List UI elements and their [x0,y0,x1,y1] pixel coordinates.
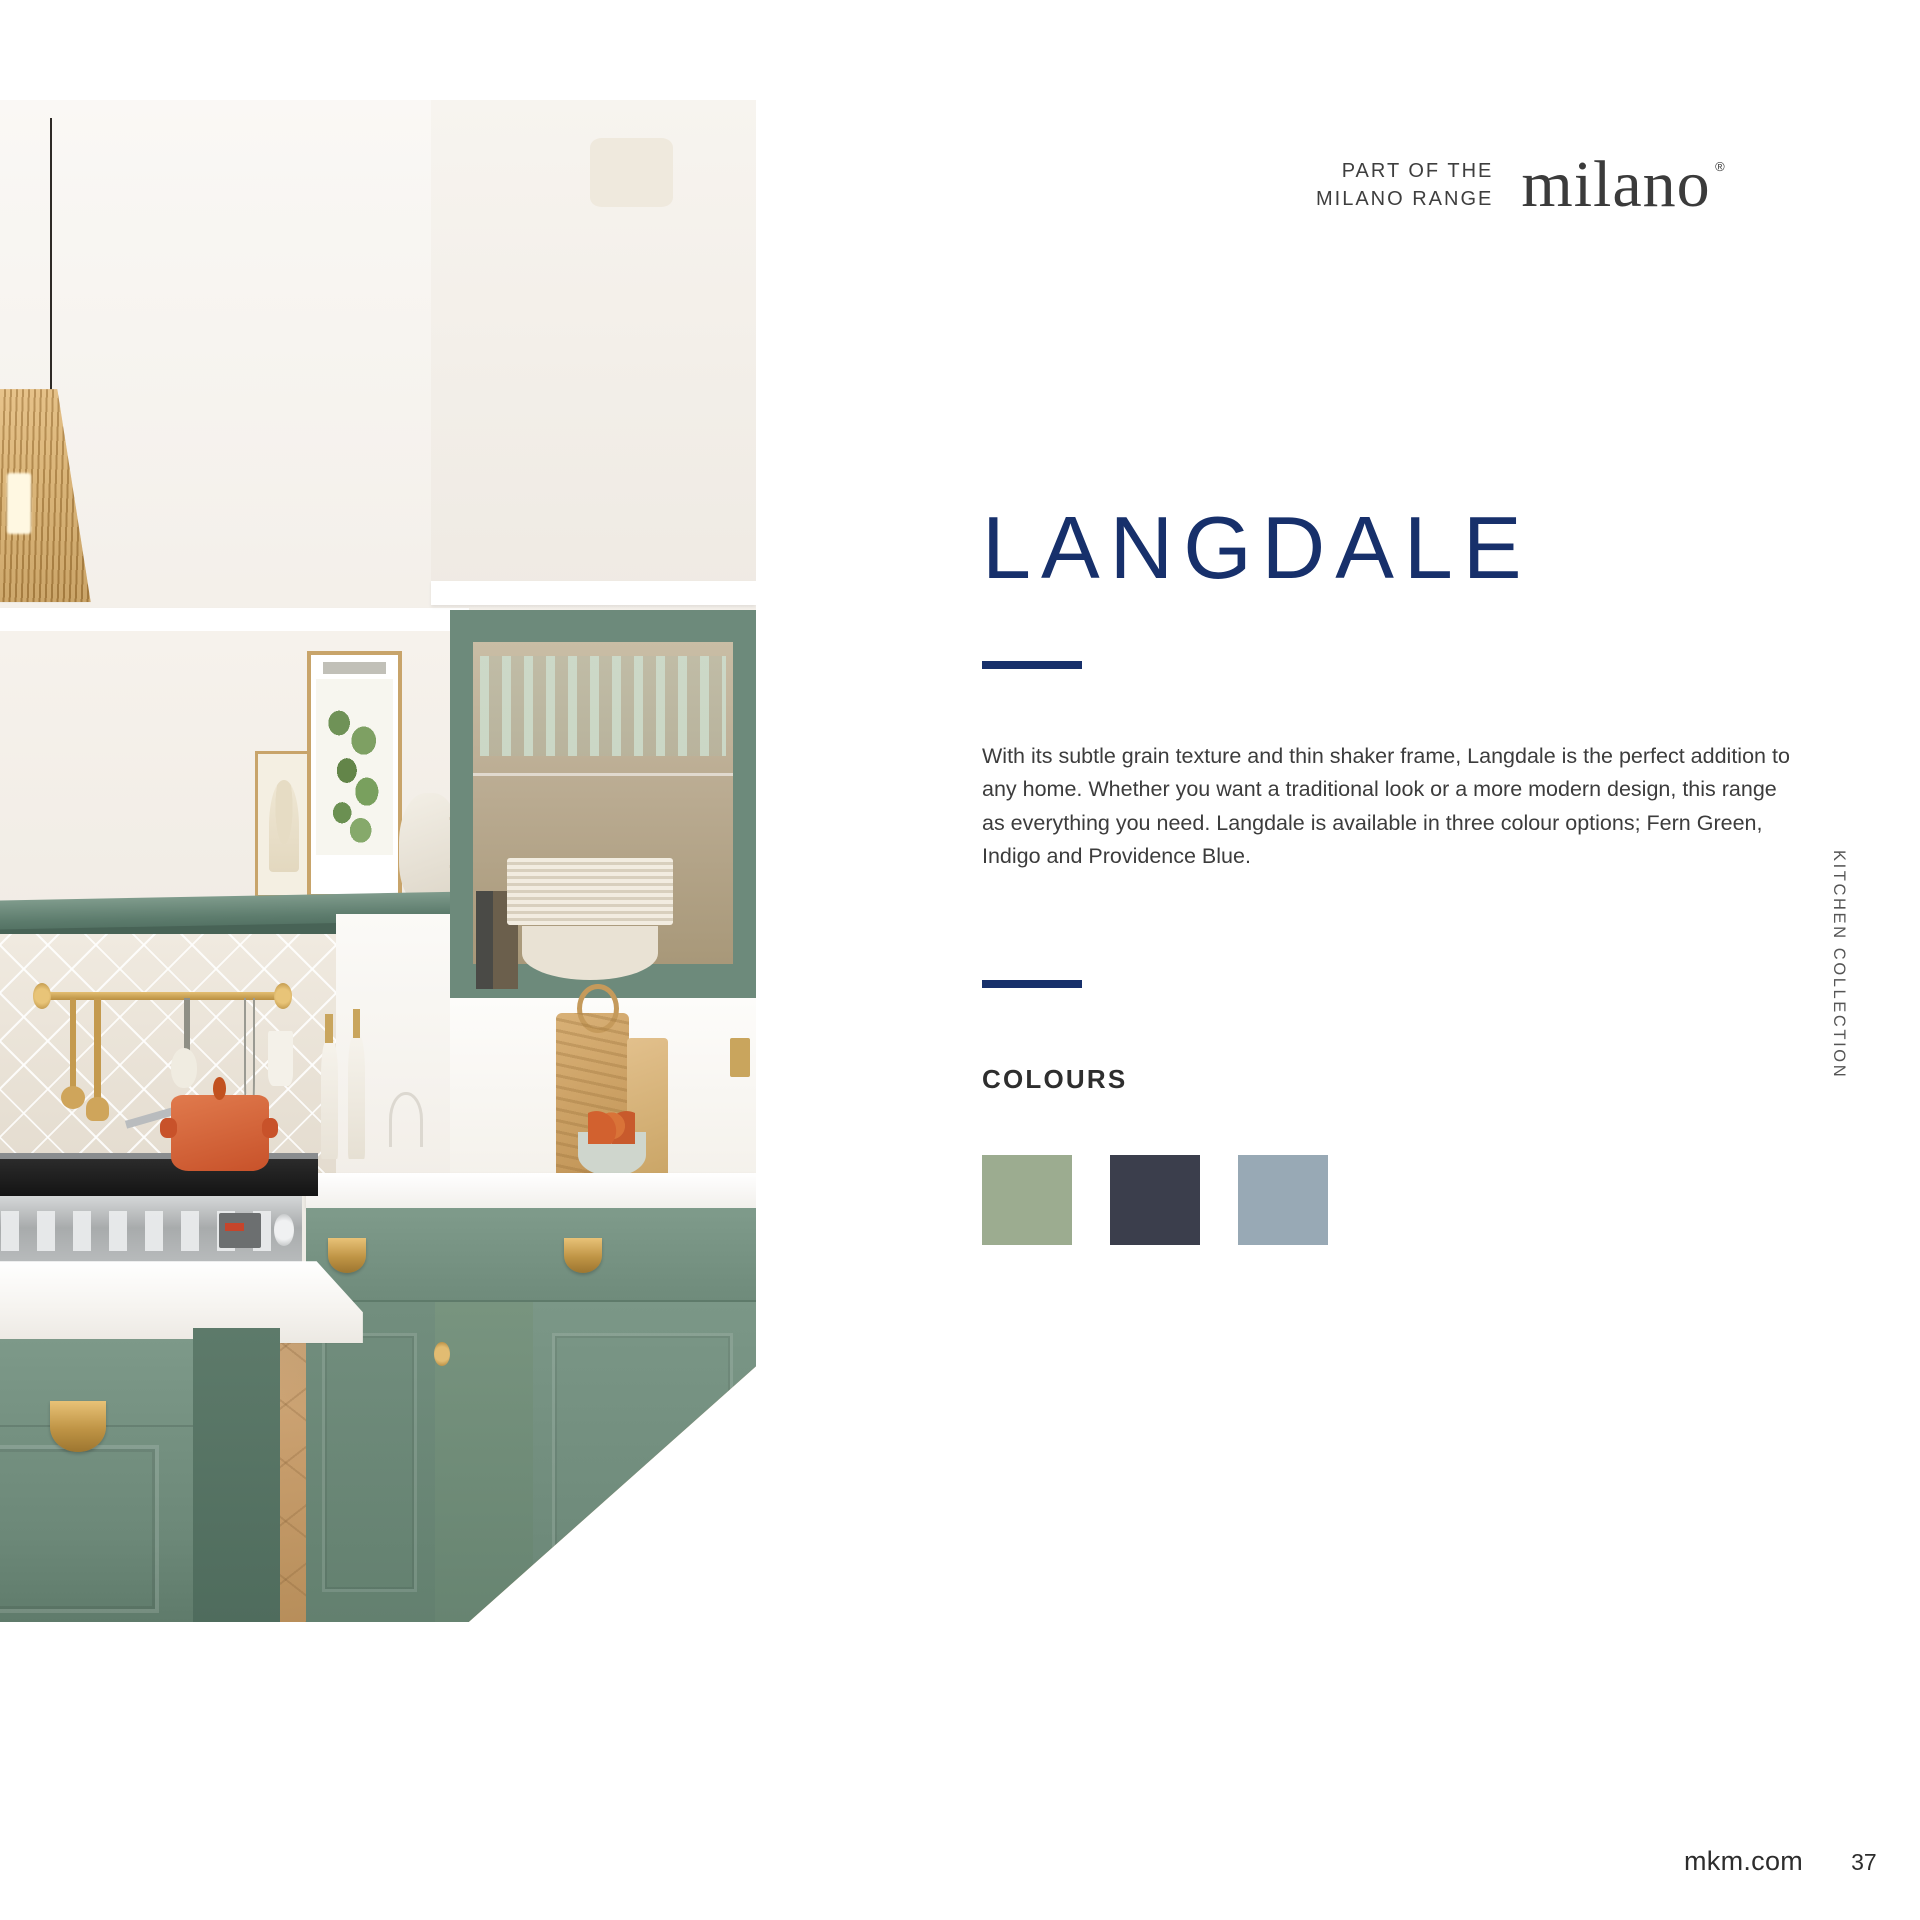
page-title: LANGDALE [982,504,1532,592]
milano-logo: milano® [1521,152,1710,218]
brass-socket [730,1038,750,1078]
kitchen-tap [389,1092,422,1147]
oil-bottle-1 [321,1041,338,1160]
cabinet-shelf-line [473,773,734,776]
rail-end-right [274,983,292,1009]
part-of-milano-range-label: PART OF THE MILANO RANGE [1316,157,1493,214]
page-footer: mkm.com 37 [1684,1846,1877,1877]
colour-swatch-providence-blue[interactable] [1238,1155,1328,1245]
page-number: 37 [1851,1849,1877,1876]
colour-swatch-indigo[interactable] [1110,1155,1200,1245]
pendant-bulb [7,473,31,534]
pot-lid-knob [213,1077,226,1100]
brochure-page: PART OF THE MILANO RANGE milano® LANGDAL… [0,0,1920,1920]
island-shaker-panel [0,1445,159,1612]
milano-logo-text: milano [1521,148,1710,221]
shaker-panel-2 [552,1333,733,1592]
brass-cup-handle-2 [564,1238,602,1273]
registered-trademark-icon: ® [1715,160,1726,173]
kitchen-photo-scene [0,100,756,1622]
brass-spoon [70,998,77,1095]
kitchen-photo [0,100,756,1622]
bowl [522,926,658,979]
framed-art-botanical [307,651,402,898]
shaker-panel-1 [322,1333,417,1592]
title-divider-rule [982,661,1082,669]
oil-bottle-2 [348,1036,365,1159]
garlic-bulb [171,1048,197,1088]
colour-swatch-list [982,1155,1328,1245]
brass-knob-handle [434,1342,450,1366]
milano-range-badge: PART OF THE MILANO RANGE milano® [1316,152,1711,218]
website-url[interactable]: mkm.com [1684,1846,1803,1877]
description-paragraph: With its subtle grain texture and thin s… [982,740,1797,873]
colours-divider-rule [982,980,1082,988]
terracotta-casserole-pot [171,1095,269,1171]
rail-end-left [33,983,51,1009]
utensil-pot [268,1031,294,1086]
kitchen-collection-side-label: KITCHEN COLLECTION [1829,850,1848,1079]
framed-art-leaves [316,679,393,856]
oven-display [219,1213,261,1248]
cup-above-cabinet [590,138,673,206]
island-worktop [0,1261,363,1343]
stacked-plates [507,858,673,925]
colours-heading: COLOURS [982,1064,1127,1095]
oven-main-dial [274,1214,294,1246]
framed-art-abstract [255,751,314,897]
pendant-cord [50,118,52,392]
pot-handle-left [160,1118,177,1138]
induction-hob [0,1159,318,1196]
brass-cup-handle-3 [50,1401,106,1451]
colour-swatch-fern-green[interactable] [982,1155,1072,1245]
island-side-panel [193,1328,280,1622]
brass-spatula [94,998,101,1108]
glassware [480,656,726,756]
pot-handle-right [262,1118,279,1138]
framed-art-caption [323,662,386,674]
cornice [0,608,469,631]
worktop-right [306,1173,756,1208]
cornice-right [431,581,756,605]
fruit [588,1111,635,1144]
